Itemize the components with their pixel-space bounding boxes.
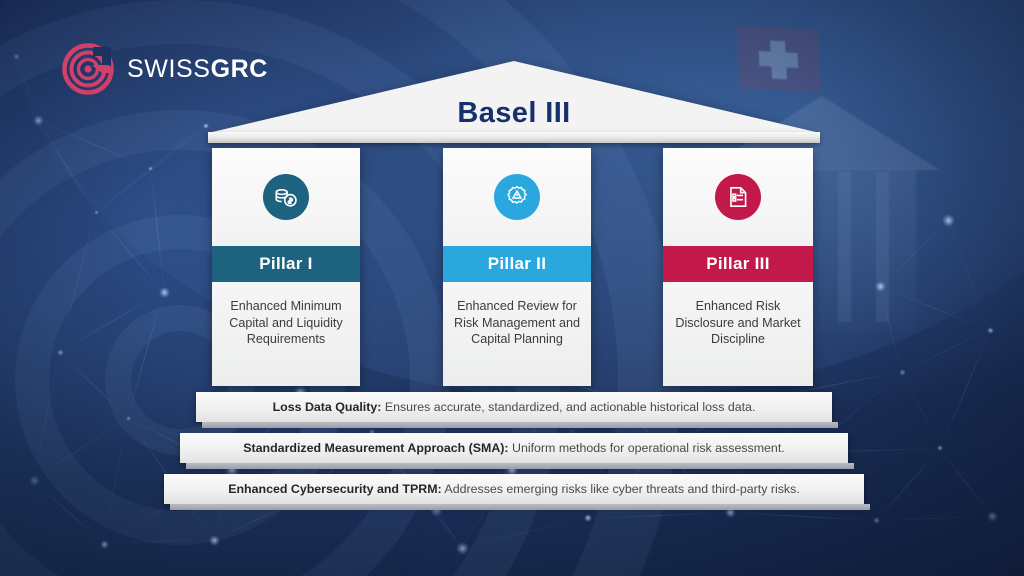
step-1-title: Loss Data Quality: [273, 400, 382, 414]
entablature-bar [208, 132, 820, 143]
step-3-title: Enhanced Cybersecurity and TPRM: [228, 482, 441, 496]
pillar-card-2[interactable]: Pillar II Enhanced Review for Risk Manag… [443, 148, 591, 386]
pediment: Basel III [208, 61, 820, 139]
slide-canvas: SWISSGRC Basel III Pillar I Enh [0, 0, 1024, 576]
pillar-2-icon-zone [443, 148, 591, 246]
steps-group: Loss Data Quality: Ensures accurate, sta… [0, 392, 1024, 515]
pillar-card-1[interactable]: Pillar I Enhanced Minimum Capital and Li… [212, 148, 360, 386]
pillar-1-description: Enhanced Minimum Capital and Liquidity R… [212, 282, 360, 386]
step-3-text: Addresses emerging risks like cyber thre… [442, 482, 800, 496]
step-bar-1[interactable]: Loss Data Quality: Ensures accurate, sta… [196, 392, 832, 422]
step-2-title: Standardized Measurement Approach (SMA): [243, 441, 508, 455]
pillar-2-label: Pillar II [443, 246, 591, 282]
pillar-card-3[interactable]: Pillar III Enhanced Risk Disclosure and … [663, 148, 813, 386]
checklist-document-icon [715, 174, 761, 220]
coins-stack-icon [263, 174, 309, 220]
gear-warning-icon [494, 174, 540, 220]
pillar-1-icon-zone [212, 148, 360, 246]
swissgrc-circular-g-logo-icon [62, 43, 114, 95]
step-bar-3[interactable]: Enhanced Cybersecurity and TPRM: Address… [164, 474, 864, 504]
pillar-3-icon-zone [663, 148, 813, 246]
step-2-text: Uniform methods for operational risk ass… [509, 441, 785, 455]
brand-name-light: SWISS [127, 55, 211, 83]
step-1-text: Ensures accurate, standardized, and acti… [381, 400, 755, 414]
pillar-3-description: Enhanced Risk Disclosure and Market Disc… [663, 282, 813, 386]
pillars-group: Pillar I Enhanced Minimum Capital and Li… [0, 148, 1024, 388]
page-title: Basel III [208, 97, 820, 130]
pillar-1-label: Pillar I [212, 246, 360, 282]
step-bar-2[interactable]: Standardized Measurement Approach (SMA):… [180, 433, 848, 463]
pillar-2-description: Enhanced Review for Risk Management and … [443, 282, 591, 386]
pillar-3-label: Pillar III [663, 246, 813, 282]
